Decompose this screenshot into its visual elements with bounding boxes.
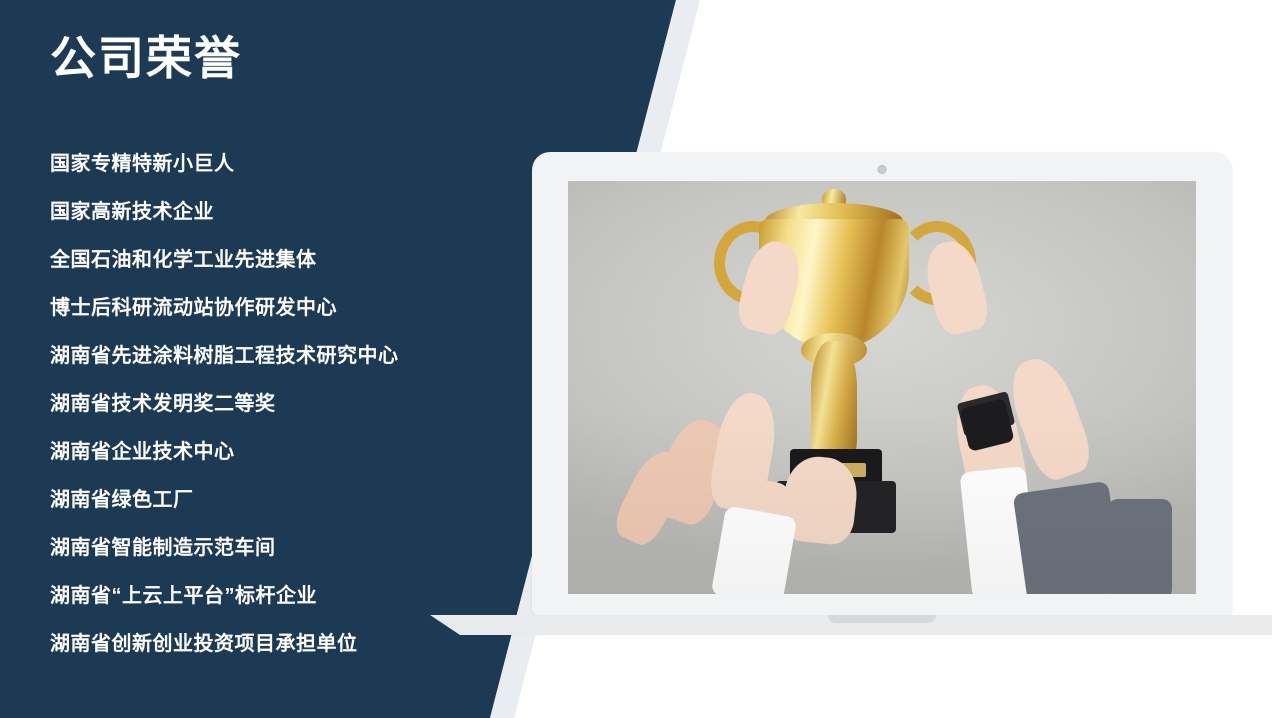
list-item: 湖南省先进涂料树脂工程技术研究中心: [50, 332, 520, 380]
list-item: 博士后科研流动站协作研发中心: [50, 284, 520, 332]
list-item: 湖南省智能制造示范车间: [50, 524, 520, 572]
laptop-hinge-notch: [828, 615, 936, 623]
laptop-lid: [532, 152, 1232, 615]
list-item: 国家专精特新小巨人: [50, 140, 520, 188]
laptop-screen: [568, 181, 1196, 594]
camera-icon: [878, 165, 887, 174]
honor-list: 国家专精特新小巨人 国家高新技术企业 全国石油和化学工业先进集体 博士后科研流动…: [50, 140, 520, 668]
list-item: 全国石油和化学工业先进集体: [50, 236, 520, 284]
list-item: 湖南省绿色工厂: [50, 476, 520, 524]
page-title: 公司荣誉: [50, 22, 242, 88]
slide: 公司荣誉 国家专精特新小巨人 国家高新技术企业 全国石油和化学工业先进集体 博士…: [0, 0, 1272, 718]
list-item: 湖南省技术发明奖二等奖: [50, 380, 520, 428]
trophy-photo: [568, 181, 1196, 594]
photo-vignette: [568, 181, 1196, 594]
list-item: 国家高新技术企业: [50, 188, 520, 236]
list-item: 湖南省“上云上平台”标杆企业: [50, 572, 520, 620]
list-item: 湖南省企业技术中心: [50, 428, 520, 476]
laptop-mockup: [532, 152, 1232, 652]
